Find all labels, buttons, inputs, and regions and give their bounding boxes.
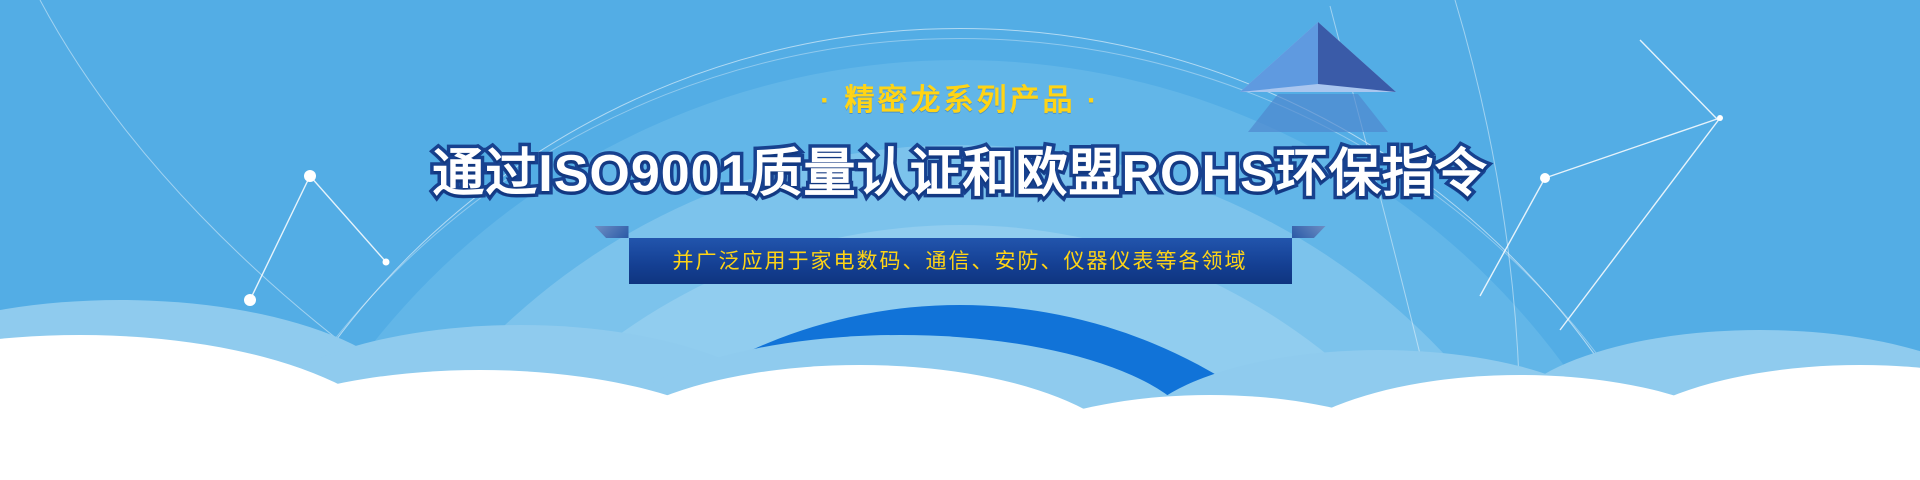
ribbon-text: 并广泛应用于家电数码、通信、安防、仪器仪表等各领域 [673, 251, 1248, 272]
promo-banner: · 精密龙系列产品 · 通过ISO9001质量认证和欧盟ROHS环保指令 并广泛… [0, 0, 1920, 480]
ribbon-flap-right [1292, 226, 1326, 238]
ribbon-flap-left [595, 226, 629, 238]
banner-content: · 精密龙系列产品 · 通过ISO9001质量认证和欧盟ROHS环保指令 并广泛… [0, 0, 1920, 480]
banner-eyebrow: · 精密龙系列产品 · [820, 86, 1100, 116]
banner-headline: 通过ISO9001质量认证和欧盟ROHS环保指令 [432, 148, 1488, 200]
ribbon-body: 并广泛应用于家电数码、通信、安防、仪器仪表等各领域 [629, 238, 1292, 284]
banner-ribbon: 并广泛应用于家电数码、通信、安防、仪器仪表等各领域 [629, 238, 1292, 284]
